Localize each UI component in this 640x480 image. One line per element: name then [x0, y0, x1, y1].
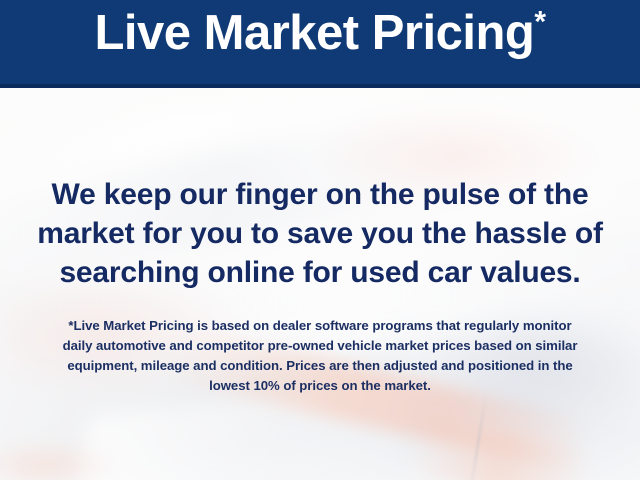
header-bar: Live Market Pricing*: [0, 0, 640, 88]
page-title-asterisk: *: [534, 6, 545, 39]
disclaimer-line-4: lowest 10% of prices on the market.: [28, 376, 612, 396]
disclaimer-line-2: daily automotive and competitor pre-owne…: [28, 336, 612, 356]
headline-line-3: searching online for used car values.: [22, 253, 618, 292]
disclaimer-line-3: equipment, mileage and condition. Prices…: [28, 356, 612, 376]
page-title: Live Market Pricing*: [0, 9, 640, 58]
disclaimer-text: *Live Market Pricing is based on dealer …: [28, 316, 612, 396]
headline: We keep our finger on the pulse of the m…: [22, 175, 618, 292]
headline-line-2: market for you to save you the hassle of: [22, 214, 618, 253]
headline-line-1: We keep our finger on the pulse of the: [22, 175, 618, 214]
page-title-text: Live Market Pricing: [94, 6, 534, 60]
live-market-pricing-banner: Live Market Pricing* We keep our finger …: [0, 0, 640, 480]
disclaimer-line-1: *Live Market Pricing is based on dealer …: [28, 316, 612, 336]
